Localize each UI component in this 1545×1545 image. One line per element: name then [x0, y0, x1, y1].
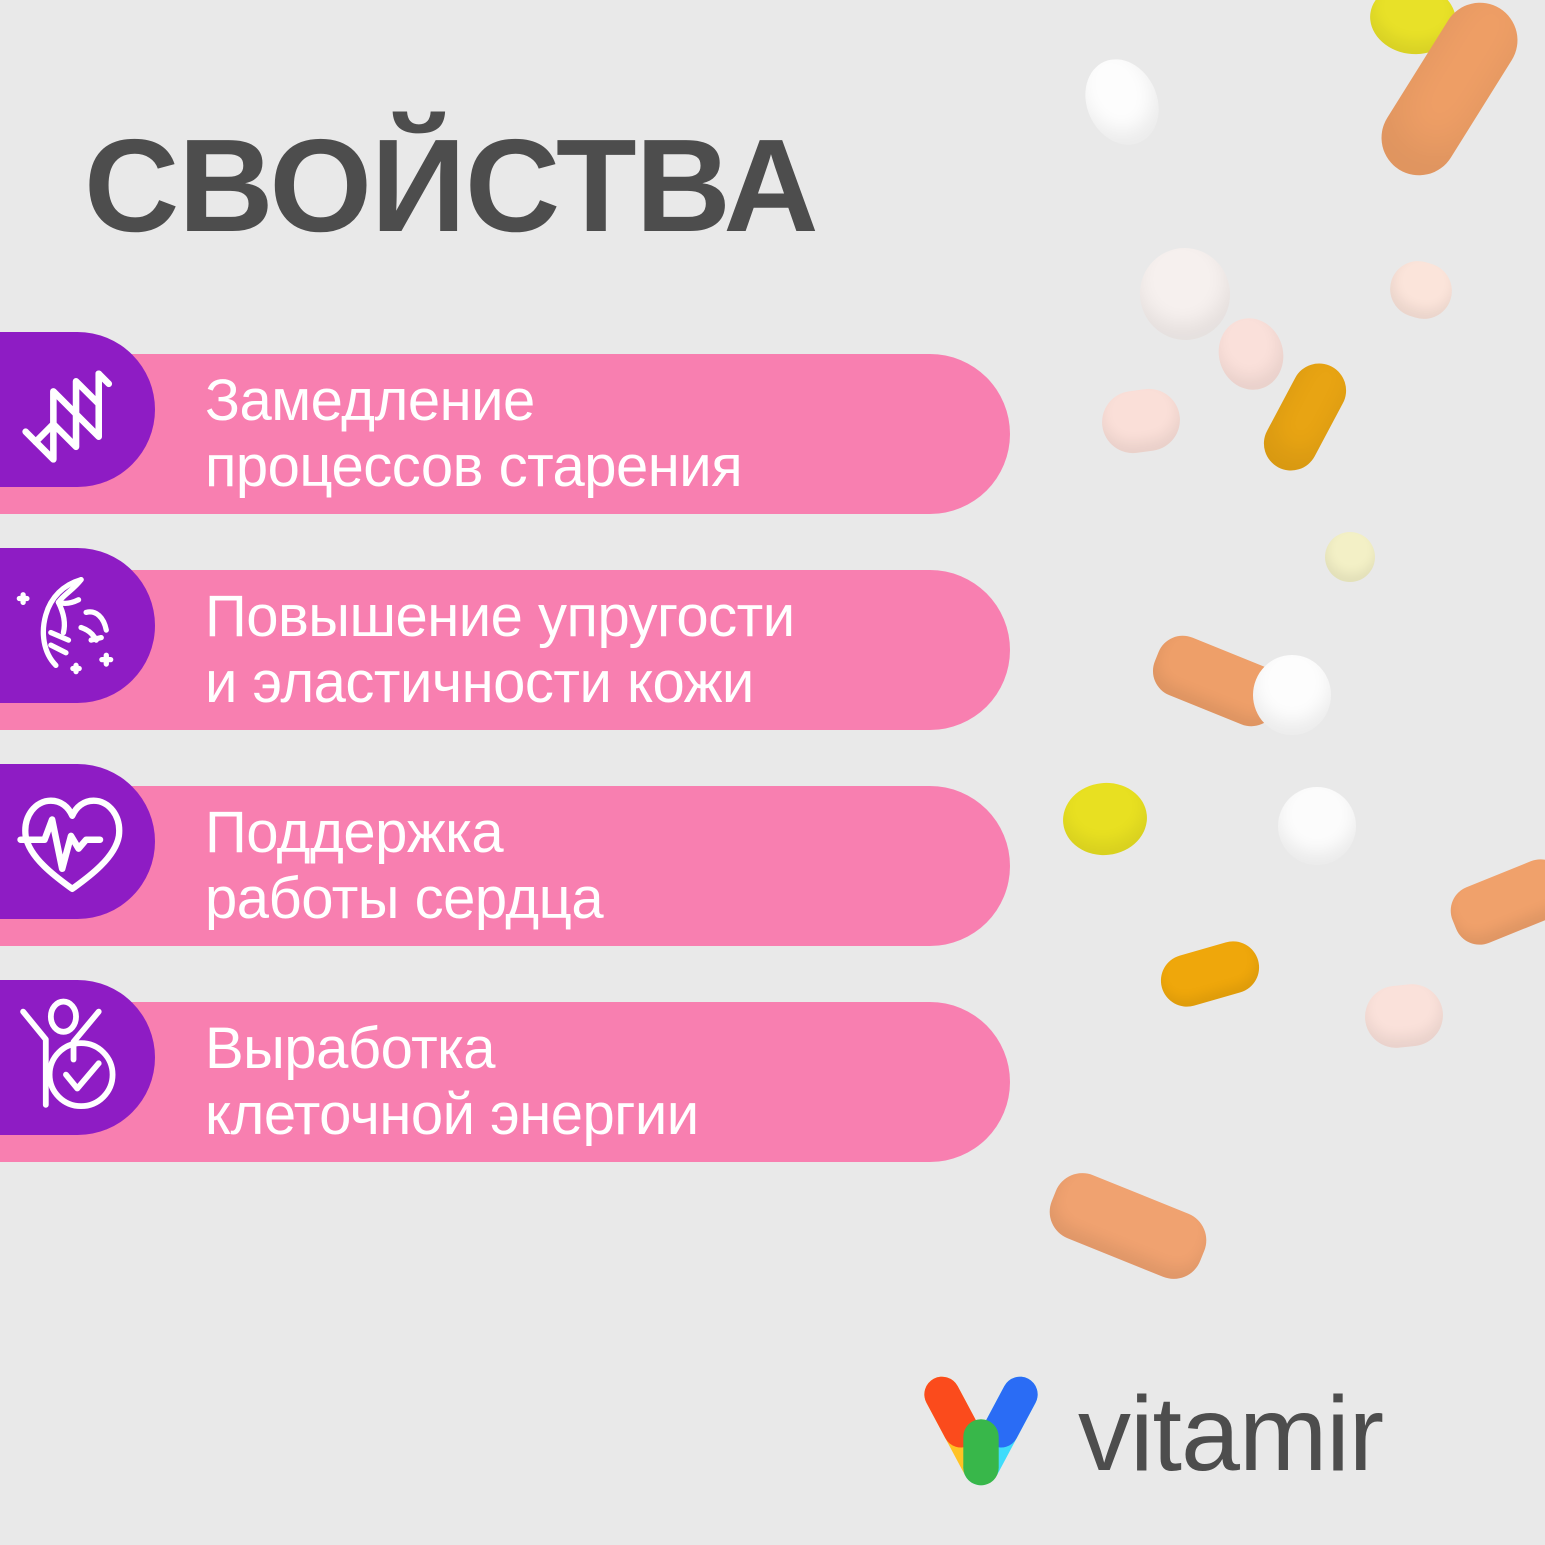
feature-label: Замедление процессов старения [205, 354, 995, 514]
feature-label: Поддержка работы сердца [205, 786, 995, 946]
white-pink-round-tablet [1131, 240, 1238, 349]
yellow-round-tablet-left [1059, 779, 1150, 859]
white-round-tablet [1072, 48, 1172, 157]
page-title: СВОЙСТВА [84, 120, 818, 252]
orange-capsule [1367, 0, 1531, 189]
feature-label: Повышение упругости и эластичности кожи [205, 570, 995, 730]
yellow-round-tablet [1366, 0, 1461, 60]
pale-pink-oval [1383, 254, 1459, 326]
feature-label: Выработка клеточной энергии [205, 1002, 995, 1162]
dna-helix-icon [0, 332, 155, 487]
yellow-capsule-low [1155, 935, 1265, 1013]
orange-oblong-bottom [1041, 1165, 1215, 1288]
white-round-tablet-mid [1253, 655, 1331, 735]
pink-oval-left [1098, 385, 1184, 457]
feature-list: Замедление процессов старения [0, 332, 1030, 1196]
orange-oblong-right [1443, 852, 1545, 953]
poster-canvas: СВОЙСТВА Замедление процессов старения [0, 0, 1545, 1545]
vitamir-v-mark-icon [922, 1372, 1040, 1490]
feature-row[interactable]: Замедление процессов старения [0, 332, 1030, 492]
yellow-capsule-small [1254, 354, 1355, 480]
pale-yellow-oval [1321, 528, 1379, 586]
pale-pink-oval-right [1362, 981, 1446, 1051]
feature-row[interactable]: Поддержка работы сердца [0, 764, 1030, 924]
feature-row[interactable]: Выработка клеточной энергии [0, 980, 1030, 1140]
pink-round-tablet [1210, 311, 1291, 398]
face-skin-icon [0, 548, 155, 703]
heart-pulse-icon [0, 764, 155, 919]
brand-wordmark: vitamir [1078, 1381, 1383, 1487]
feature-row[interactable]: Повышение упругости и эластичности кожи [0, 548, 1030, 708]
orange-oblong-tablet [1145, 628, 1289, 734]
person-check-icon [0, 980, 155, 1135]
white-round-tablet-low [1278, 787, 1356, 865]
brand-logo[interactable]: vitamir [922, 1372, 1383, 1490]
